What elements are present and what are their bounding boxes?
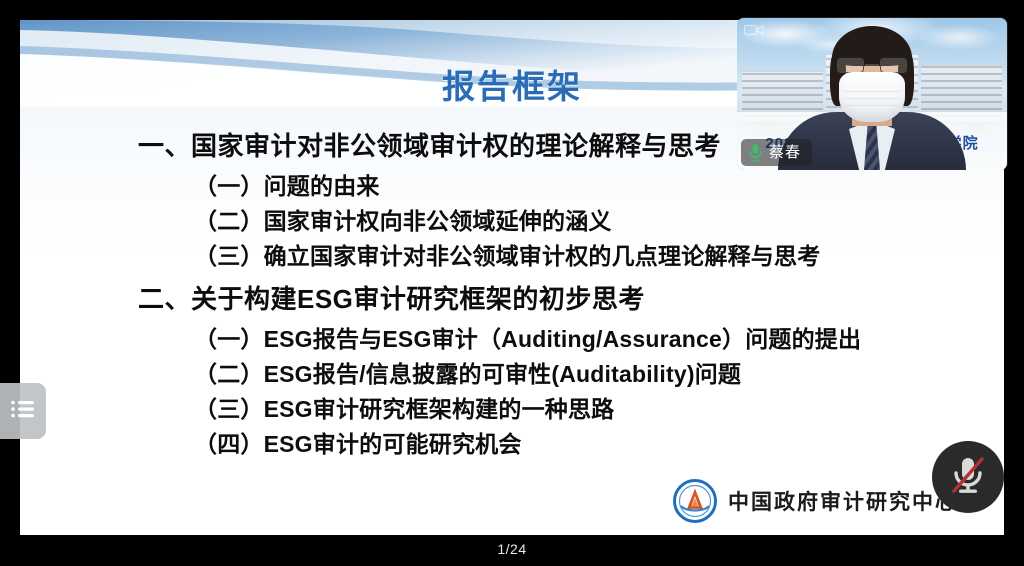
participant-name-plate: 蔡春: [741, 139, 812, 166]
participant-video-tile[interactable]: 2022年西南财经大学会计学院 学术论坛: [737, 18, 1007, 170]
slide-list-button[interactable]: [0, 383, 46, 439]
outline-item-2-1: （一）ESG报告与ESG审计（Auditing/Assurance）问题的提出: [194, 322, 964, 357]
outline-item-2: 二、关于构建ESG审计研究框架的初步思考: [138, 281, 964, 318]
slide-footer-logo: 中国政府审计研究中心: [673, 479, 958, 523]
outline-item-2-4: （四）ESG审计的可能研究机会: [194, 427, 964, 462]
camera-icon: [744, 23, 764, 37]
glasses-bridge: [865, 64, 879, 66]
glasses-lens-left: [837, 58, 864, 73]
audit-center-name: 中国政府审计研究中心: [728, 486, 958, 516]
microphone-on-icon: [748, 143, 763, 162]
screen: 报告框架 一、国家审计对非公领域审计权的理论解释与思考 （一）问题的由来 （二）…: [0, 0, 1024, 566]
page-indicator: 1/24: [0, 541, 1024, 557]
slide-outline: 一、国家审计对非公领域审计权的理论解释与思考 （一）问题的由来 （二）国家审计权…: [138, 128, 964, 461]
outline-item-1-2: （二）国家审计权向非公领域延伸的涵义: [194, 204, 964, 239]
microphone-muted-icon: [949, 453, 987, 502]
participant-name: 蔡春: [769, 145, 801, 160]
mute-microphone-button[interactable]: [932, 441, 1004, 513]
list-menu-icon: [10, 399, 36, 424]
audit-center-emblem-icon: [673, 479, 717, 523]
outline-item-1-1: （一）问题的由来: [194, 169, 964, 204]
glasses-lens-right: [880, 58, 907, 73]
outline-item-2-2: （二）ESG报告/信息披露的可审性(Auditability)问题: [194, 357, 964, 392]
outline-item-2-3: （三）ESG审计研究框架构建的一种思路: [194, 392, 964, 427]
outline-item-1-3: （三）确立国家审计对非公领域审计权的几点理论解释与思考: [194, 239, 964, 274]
participant-person: [806, 24, 938, 170]
person-face-mask: [839, 72, 905, 122]
